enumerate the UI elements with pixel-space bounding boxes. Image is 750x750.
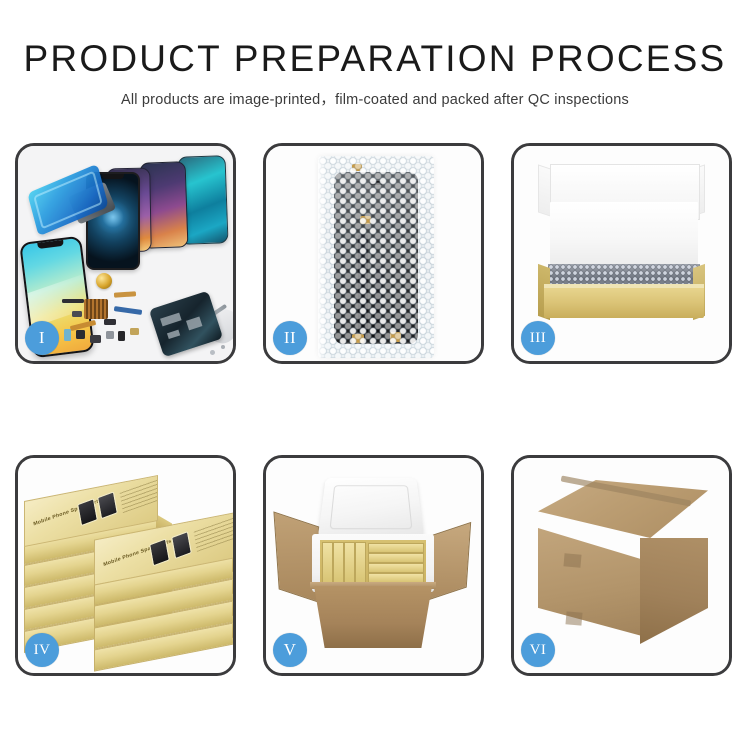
step-badge-5: V — [273, 633, 307, 667]
flex-cable-icon — [62, 299, 84, 303]
bubble-wrap-bag-icon — [318, 156, 434, 358]
white-foam-sheet-icon — [550, 202, 698, 264]
box-spec-lines-icon — [120, 477, 158, 513]
micro-component-icon — [90, 335, 101, 343]
micro-component-icon — [130, 328, 139, 335]
packed-box-icon — [333, 542, 344, 584]
box-side-icon — [232, 620, 236, 647]
bag-seam-icon — [318, 156, 326, 358]
micro-component-icon — [104, 319, 116, 325]
step-badge-3: III — [521, 321, 555, 355]
packed-box-icon — [322, 542, 333, 584]
screw-icon — [210, 350, 215, 355]
page-subtitle: All products are image-printed，film-coat… — [0, 88, 750, 109]
box-spec-lines-icon — [194, 516, 234, 552]
micro-component-icon — [64, 329, 71, 341]
carton-tape-icon — [565, 611, 582, 625]
micro-component-icon — [118, 331, 125, 341]
carton-left-face-icon — [538, 528, 642, 636]
logic-board-chip-icon — [160, 313, 181, 327]
box-side-icon — [232, 576, 236, 603]
flex-cable-icon — [114, 291, 136, 298]
process-step-panel-4[interactable]: Mobile Phone Spare Parts Mobile Phone Sp… — [15, 455, 236, 676]
packed-box-icon — [355, 542, 366, 584]
logic-board-chip-icon — [167, 330, 180, 339]
box-product-thumbnail-icon — [149, 538, 170, 566]
cooler-contents-icon — [320, 540, 426, 584]
page-title: PRODUCT PREPARATION PROCESS — [0, 38, 750, 80]
micro-component-icon — [76, 330, 85, 339]
process-step-panel-5[interactable]: V — [263, 455, 484, 676]
process-step-panel-2[interactable]: II — [263, 143, 484, 364]
foam-cooler-lid-icon — [318, 478, 425, 539]
phone-notch-icon — [102, 174, 124, 179]
micro-component-icon — [72, 311, 82, 317]
packed-box-icon — [368, 543, 424, 553]
packed-box-icon — [344, 542, 355, 584]
box-product-thumbnail-icon — [97, 491, 118, 519]
phone-back-housing-icon — [149, 291, 223, 358]
phone-notch-icon — [37, 240, 64, 249]
bubble-texture-icon — [318, 156, 434, 358]
box-product-thumbnail-icon — [77, 498, 98, 526]
logic-board-chip-icon — [186, 317, 202, 331]
process-step-grid: I II — [15, 143, 738, 678]
carton-tape-icon — [563, 553, 581, 567]
process-step-panel-3[interactable]: III — [511, 143, 732, 364]
box-side-icon — [232, 598, 236, 625]
carton-front-panel-icon — [314, 586, 432, 648]
box-front-panel-icon — [544, 288, 704, 318]
carton-right-face-icon — [640, 538, 708, 644]
gold-speaker-component-icon — [96, 273, 112, 289]
page-header: PRODUCT PREPARATION PROCESS All products… — [0, 0, 750, 130]
copper-shield-component-icon — [84, 299, 108, 319]
step-badge-4: IV — [25, 633, 59, 667]
micro-component-icon — [106, 331, 114, 339]
packed-box-icon — [368, 563, 424, 573]
box-product-thumbnail-icon — [171, 531, 192, 559]
packed-box-icon — [368, 553, 424, 563]
step-badge-2: II — [273, 321, 307, 355]
flex-cable-icon — [114, 306, 142, 315]
process-step-panel-6[interactable]: VI — [511, 455, 732, 676]
screw-icon — [221, 345, 225, 349]
process-step-panel-1[interactable]: I — [15, 143, 236, 364]
step-badge-1: I — [25, 321, 59, 355]
step-badge-6: VI — [521, 633, 555, 667]
